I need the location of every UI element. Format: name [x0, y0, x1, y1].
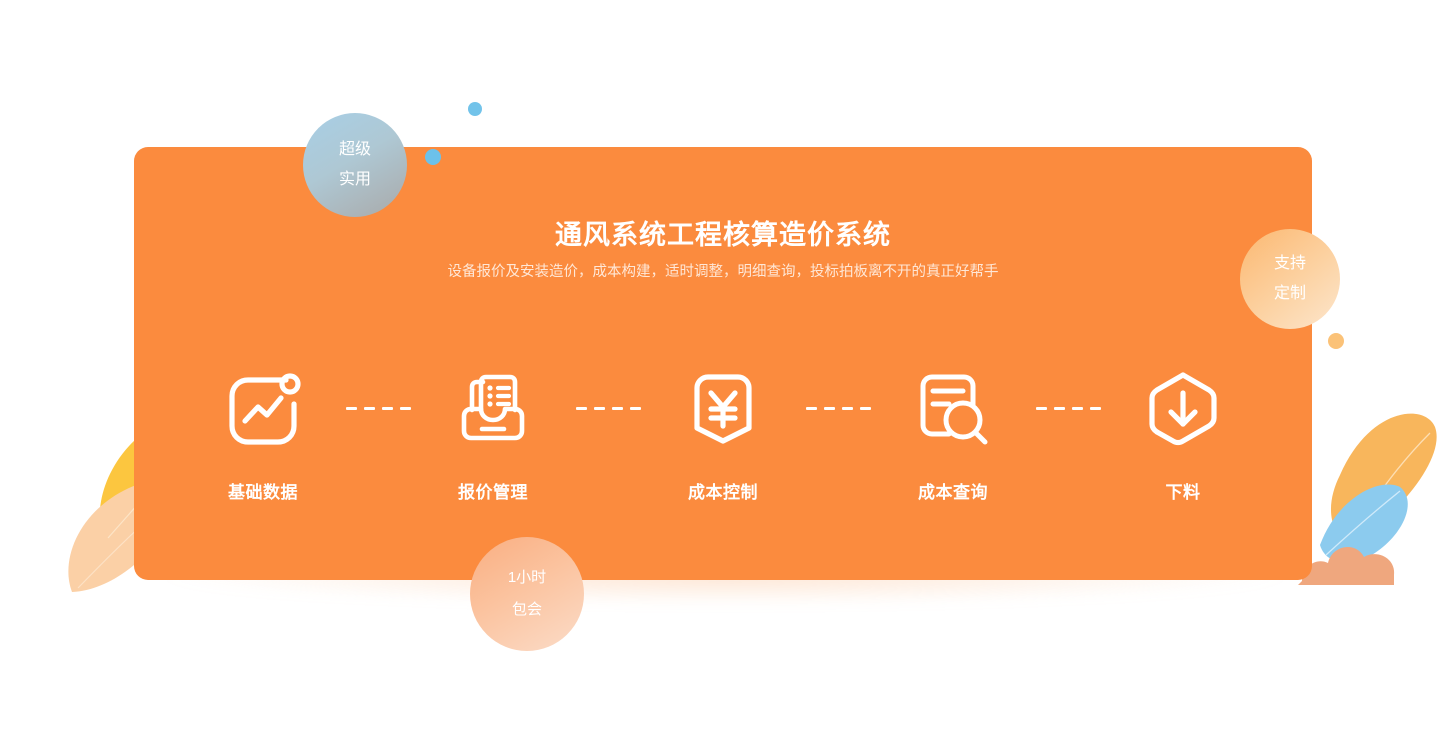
badge-line-1: 支持 — [1274, 249, 1306, 279]
badge-line-1: 1小时 — [508, 562, 546, 594]
yuan-banner-icon — [677, 362, 769, 454]
poster-stage: 通风系统工程核算造价系统 设备报价及安装造价，成本构建，适时调整，明细查询，投标… — [0, 0, 1440, 730]
cloud-salmon-right — [1298, 547, 1394, 585]
hexagon-download-icon — [1137, 362, 1229, 454]
feature-label: 报价管理 — [458, 478, 528, 503]
inbox-documents-icon — [447, 362, 539, 454]
promo-card: 通风系统工程核算造价系统 设备报价及安装造价，成本构建，适时调整，明细查询，投标… — [134, 147, 1312, 580]
connector-dashes — [1033, 362, 1103, 454]
badge-line-2: 定制 — [1274, 279, 1306, 309]
badge-support-custom: 支持 定制 — [1240, 229, 1340, 329]
leaf-orange-right — [1331, 414, 1437, 547]
page-title: 通风系统工程核算造价系统 — [134, 213, 1312, 252]
feature-item-cost-control[interactable]: 成本控制 — [643, 362, 803, 503]
feature-label: 下料 — [1166, 478, 1201, 503]
connector-dashes — [573, 362, 643, 454]
feature-item-basic-data[interactable]: 基础数据 — [183, 362, 343, 503]
page-subtitle: 设备报价及安装造价，成本构建，适时调整，明细查询，投标拍板离不开的真正好帮手 — [423, 260, 1023, 285]
blue-dot — [425, 149, 441, 165]
badge-line-2: 包会 — [512, 594, 542, 626]
feature-item-quote-management[interactable]: 报价管理 — [413, 362, 573, 503]
orange-dot — [1328, 333, 1344, 349]
chart-square-icon — [217, 362, 309, 454]
feature-label: 成本查询 — [918, 478, 988, 503]
feature-list: 基础数据 报价管理 — [134, 362, 1312, 503]
connector-dashes — [803, 362, 873, 454]
badge-line-1: 超级 — [339, 135, 371, 165]
feature-label: 基础数据 — [228, 478, 298, 503]
feature-item-cost-query[interactable]: 成本查询 — [873, 362, 1033, 503]
badge-super-useful: 超级 实用 — [303, 113, 407, 217]
feature-label: 成本控制 — [688, 478, 758, 503]
document-search-icon — [907, 362, 999, 454]
feature-item-cutting[interactable]: 下料 — [1103, 362, 1263, 503]
blue-dot-small — [468, 102, 482, 116]
badge-one-hour: 1小时 包会 — [470, 537, 584, 651]
connector-dashes — [343, 362, 413, 454]
leaf-blue-right — [1320, 484, 1408, 563]
badge-line-2: 实用 — [339, 165, 371, 195]
